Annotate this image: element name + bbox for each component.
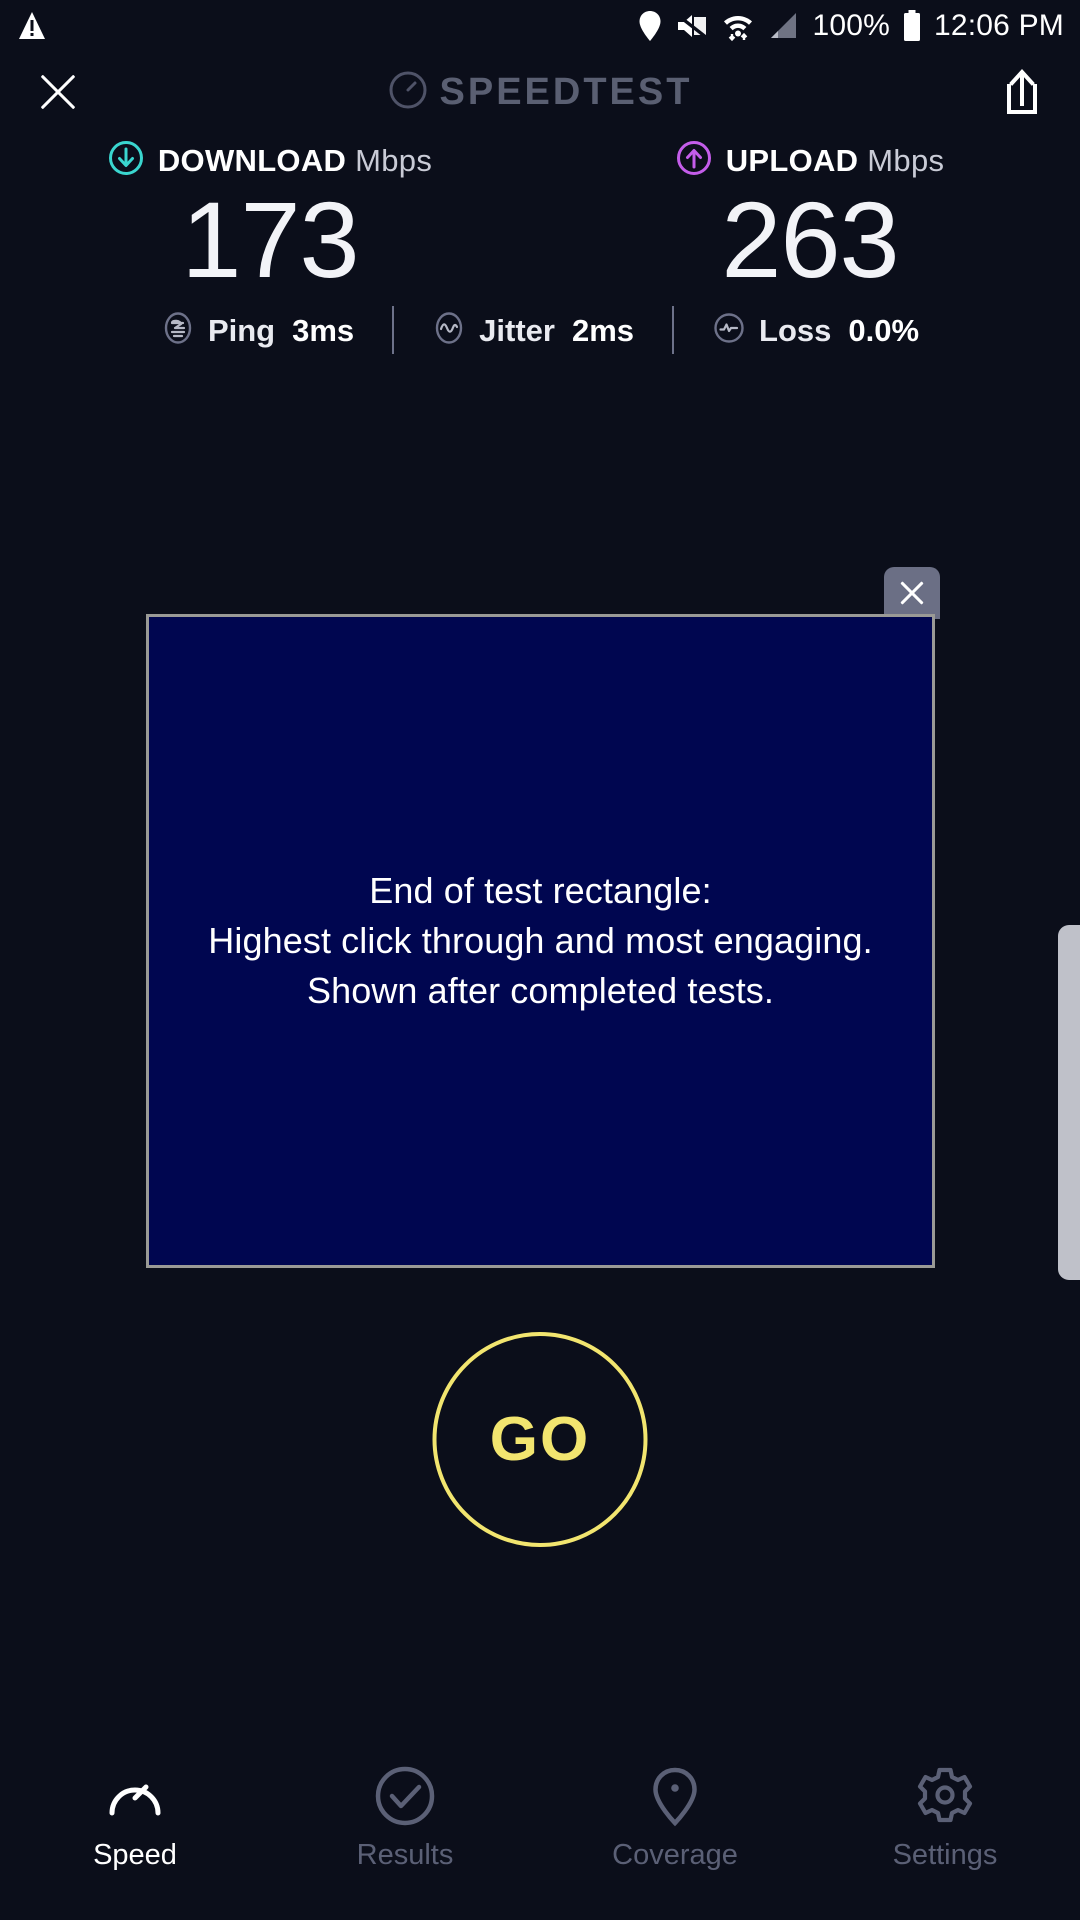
ad-close-button[interactable] — [884, 567, 940, 619]
page-title: SPEEDTEST — [440, 73, 693, 111]
ping-label: Ping — [208, 315, 275, 346]
download-metric: DOWNLOAD Mbps 173 — [0, 140, 540, 295]
vertical-scrollbar-thumb[interactable] — [1058, 925, 1080, 1280]
go-button[interactable]: GO — [433, 1332, 648, 1547]
stats-divider — [672, 306, 674, 354]
nav-label-speed: Speed — [93, 1841, 177, 1870]
bottom-navigation-bar: Speed Results Coverage — [0, 1745, 1080, 1920]
upload-header: UPLOAD Mbps — [676, 140, 945, 181]
test-results: DOWNLOAD Mbps 173 UPLOAD — [0, 140, 1080, 295]
speedometer-icon — [104, 1765, 166, 1827]
upload-metric: UPLOAD Mbps 263 — [540, 140, 1080, 295]
download-unit: Mbps — [355, 143, 432, 178]
nav-label-coverage: Coverage — [612, 1841, 738, 1870]
gear-icon — [914, 1765, 976, 1827]
volume-mute-icon — [675, 11, 709, 41]
connection-stats-row: Ping 3ms Jitter 2ms Loss 0.0 — [0, 300, 1080, 360]
app-header: SPEEDTEST — [0, 52, 1080, 132]
download-label: DOWNLOAD Mbps — [158, 145, 432, 176]
download-header: DOWNLOAD Mbps — [108, 140, 432, 181]
cellular-signal-icon — [767, 11, 799, 41]
ping-icon — [161, 311, 195, 350]
ad-line-3: Shown after completed tests. — [208, 966, 872, 1016]
jitter-icon — [432, 311, 466, 350]
share-icon[interactable] — [996, 64, 1048, 120]
nav-item-results[interactable]: Results — [270, 1765, 540, 1870]
speedometer-icon — [388, 70, 428, 115]
status-bar: 100% 12:06 PM — [0, 0, 1080, 52]
advertisement-banner[interactable]: End of test rectangle: Highest click thr… — [146, 614, 935, 1268]
stats-divider — [392, 306, 394, 354]
clock-label: 12:06 PM — [934, 11, 1064, 41]
loss-stat: Loss 0.0% — [712, 311, 919, 350]
go-button-label: GO — [490, 1409, 590, 1471]
nav-item-speed[interactable]: Speed — [0, 1765, 270, 1870]
wifi-icon — [722, 10, 754, 42]
arrow-up-circle-icon — [676, 140, 712, 181]
nav-label-results: Results — [357, 1841, 454, 1870]
status-bar-left — [18, 11, 46, 41]
map-pin-icon — [644, 1765, 706, 1827]
brand: SPEEDTEST — [388, 70, 693, 115]
jitter-stat: Jitter 2ms — [432, 311, 634, 350]
jitter-value: 2ms — [572, 315, 634, 346]
ping-stat: Ping 3ms — [161, 311, 354, 350]
nav-item-coverage[interactable]: Coverage — [540, 1765, 810, 1870]
ad-line-1: End of test rectangle: — [208, 866, 872, 916]
battery-full-icon — [903, 10, 921, 42]
speedtest-app-screen: 100% 12:06 PM SPEEDTEST — [0, 0, 1080, 1920]
nav-item-settings[interactable]: Settings — [810, 1765, 1080, 1870]
status-bar-right: 100% 12:06 PM — [638, 10, 1064, 42]
download-value: 173 — [181, 185, 358, 295]
download-upload-row: DOWNLOAD Mbps 173 UPLOAD — [0, 140, 1080, 295]
loss-icon — [712, 311, 746, 350]
upload-value: 263 — [721, 185, 898, 295]
nav-label-settings: Settings — [893, 1841, 998, 1870]
ad-line-2: Highest click through and most engaging. — [208, 916, 872, 966]
location-pin-icon — [638, 10, 662, 42]
close-icon — [897, 578, 927, 608]
upload-unit: Mbps — [867, 143, 944, 178]
check-circle-icon — [374, 1765, 436, 1827]
close-icon[interactable] — [32, 66, 84, 118]
loss-label: Loss — [759, 315, 831, 346]
ad-text: End of test rectangle: Highest click thr… — [208, 866, 872, 1015]
jitter-label: Jitter — [479, 315, 555, 346]
loss-value: 0.0% — [848, 315, 919, 346]
warning-triangle-icon — [18, 11, 46, 41]
battery-percent-label: 100% — [812, 11, 890, 41]
arrow-down-circle-icon — [108, 140, 144, 181]
ping-value: 3ms — [292, 315, 354, 346]
upload-label: UPLOAD Mbps — [726, 145, 945, 176]
